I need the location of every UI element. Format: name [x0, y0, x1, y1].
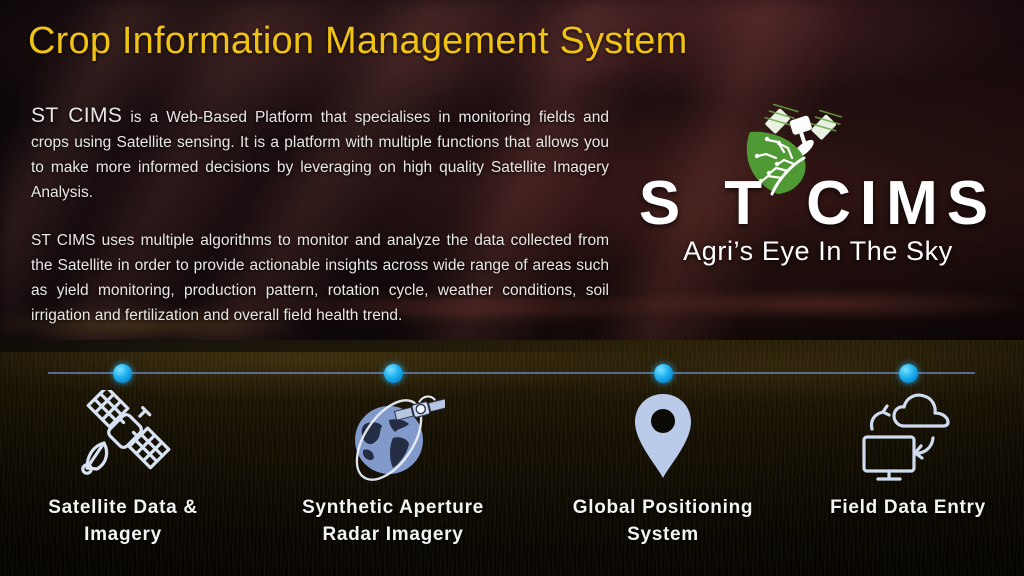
logo-tagline: Agri’s Eye In The Sky: [626, 236, 1010, 267]
timeline-item-label: Satellite Data & Imagery: [8, 494, 238, 548]
satellite-icon: [8, 386, 238, 486]
brand-name-inline: ST CIMS: [31, 104, 122, 127]
timeline-item-label: Synthetic Aperture Radar Imagery: [278, 494, 508, 548]
globe-orbit-icon: [278, 386, 508, 486]
intro-paragraph: ST CIMS is a Web-Based Platform that spe…: [31, 103, 609, 205]
cloud-monitor-sync-icon: [793, 386, 1023, 486]
timeline-item-label: Global Positioning System: [548, 494, 778, 548]
timeline-track: [48, 372, 975, 374]
page-title: Crop Information Management System: [28, 20, 687, 63]
map-pin-icon: [548, 386, 778, 486]
logo-word-right: CIMS: [806, 169, 997, 238]
timeline-item-satellite-data[interactable]: Satellite Data & Imagery: [8, 386, 238, 548]
timeline-item-label: Field Data Entry: [793, 494, 1023, 521]
timeline-dot-1[interactable]: [113, 364, 132, 383]
timeline-item-sar-imagery[interactable]: Synthetic Aperture Radar Imagery: [278, 386, 508, 548]
logo-word-left: ST: [639, 169, 806, 238]
timeline-item-gps[interactable]: Global Positioning System: [548, 386, 778, 548]
st-cims-logo: STCIMS Agri’s Eye In The Sky: [626, 96, 1010, 280]
timeline-dot-4[interactable]: [899, 364, 918, 383]
capabilities-paragraph: ST CIMS uses multiple algorithms to moni…: [31, 228, 609, 328]
slide-root: Crop Information Management System ST CI…: [0, 0, 1024, 576]
logo-wordmark: STCIMS: [626, 168, 1010, 239]
timeline-dot-2[interactable]: [384, 364, 403, 383]
timeline-item-field-data-entry[interactable]: Field Data Entry: [793, 386, 1023, 521]
timeline-dot-3[interactable]: [654, 364, 673, 383]
